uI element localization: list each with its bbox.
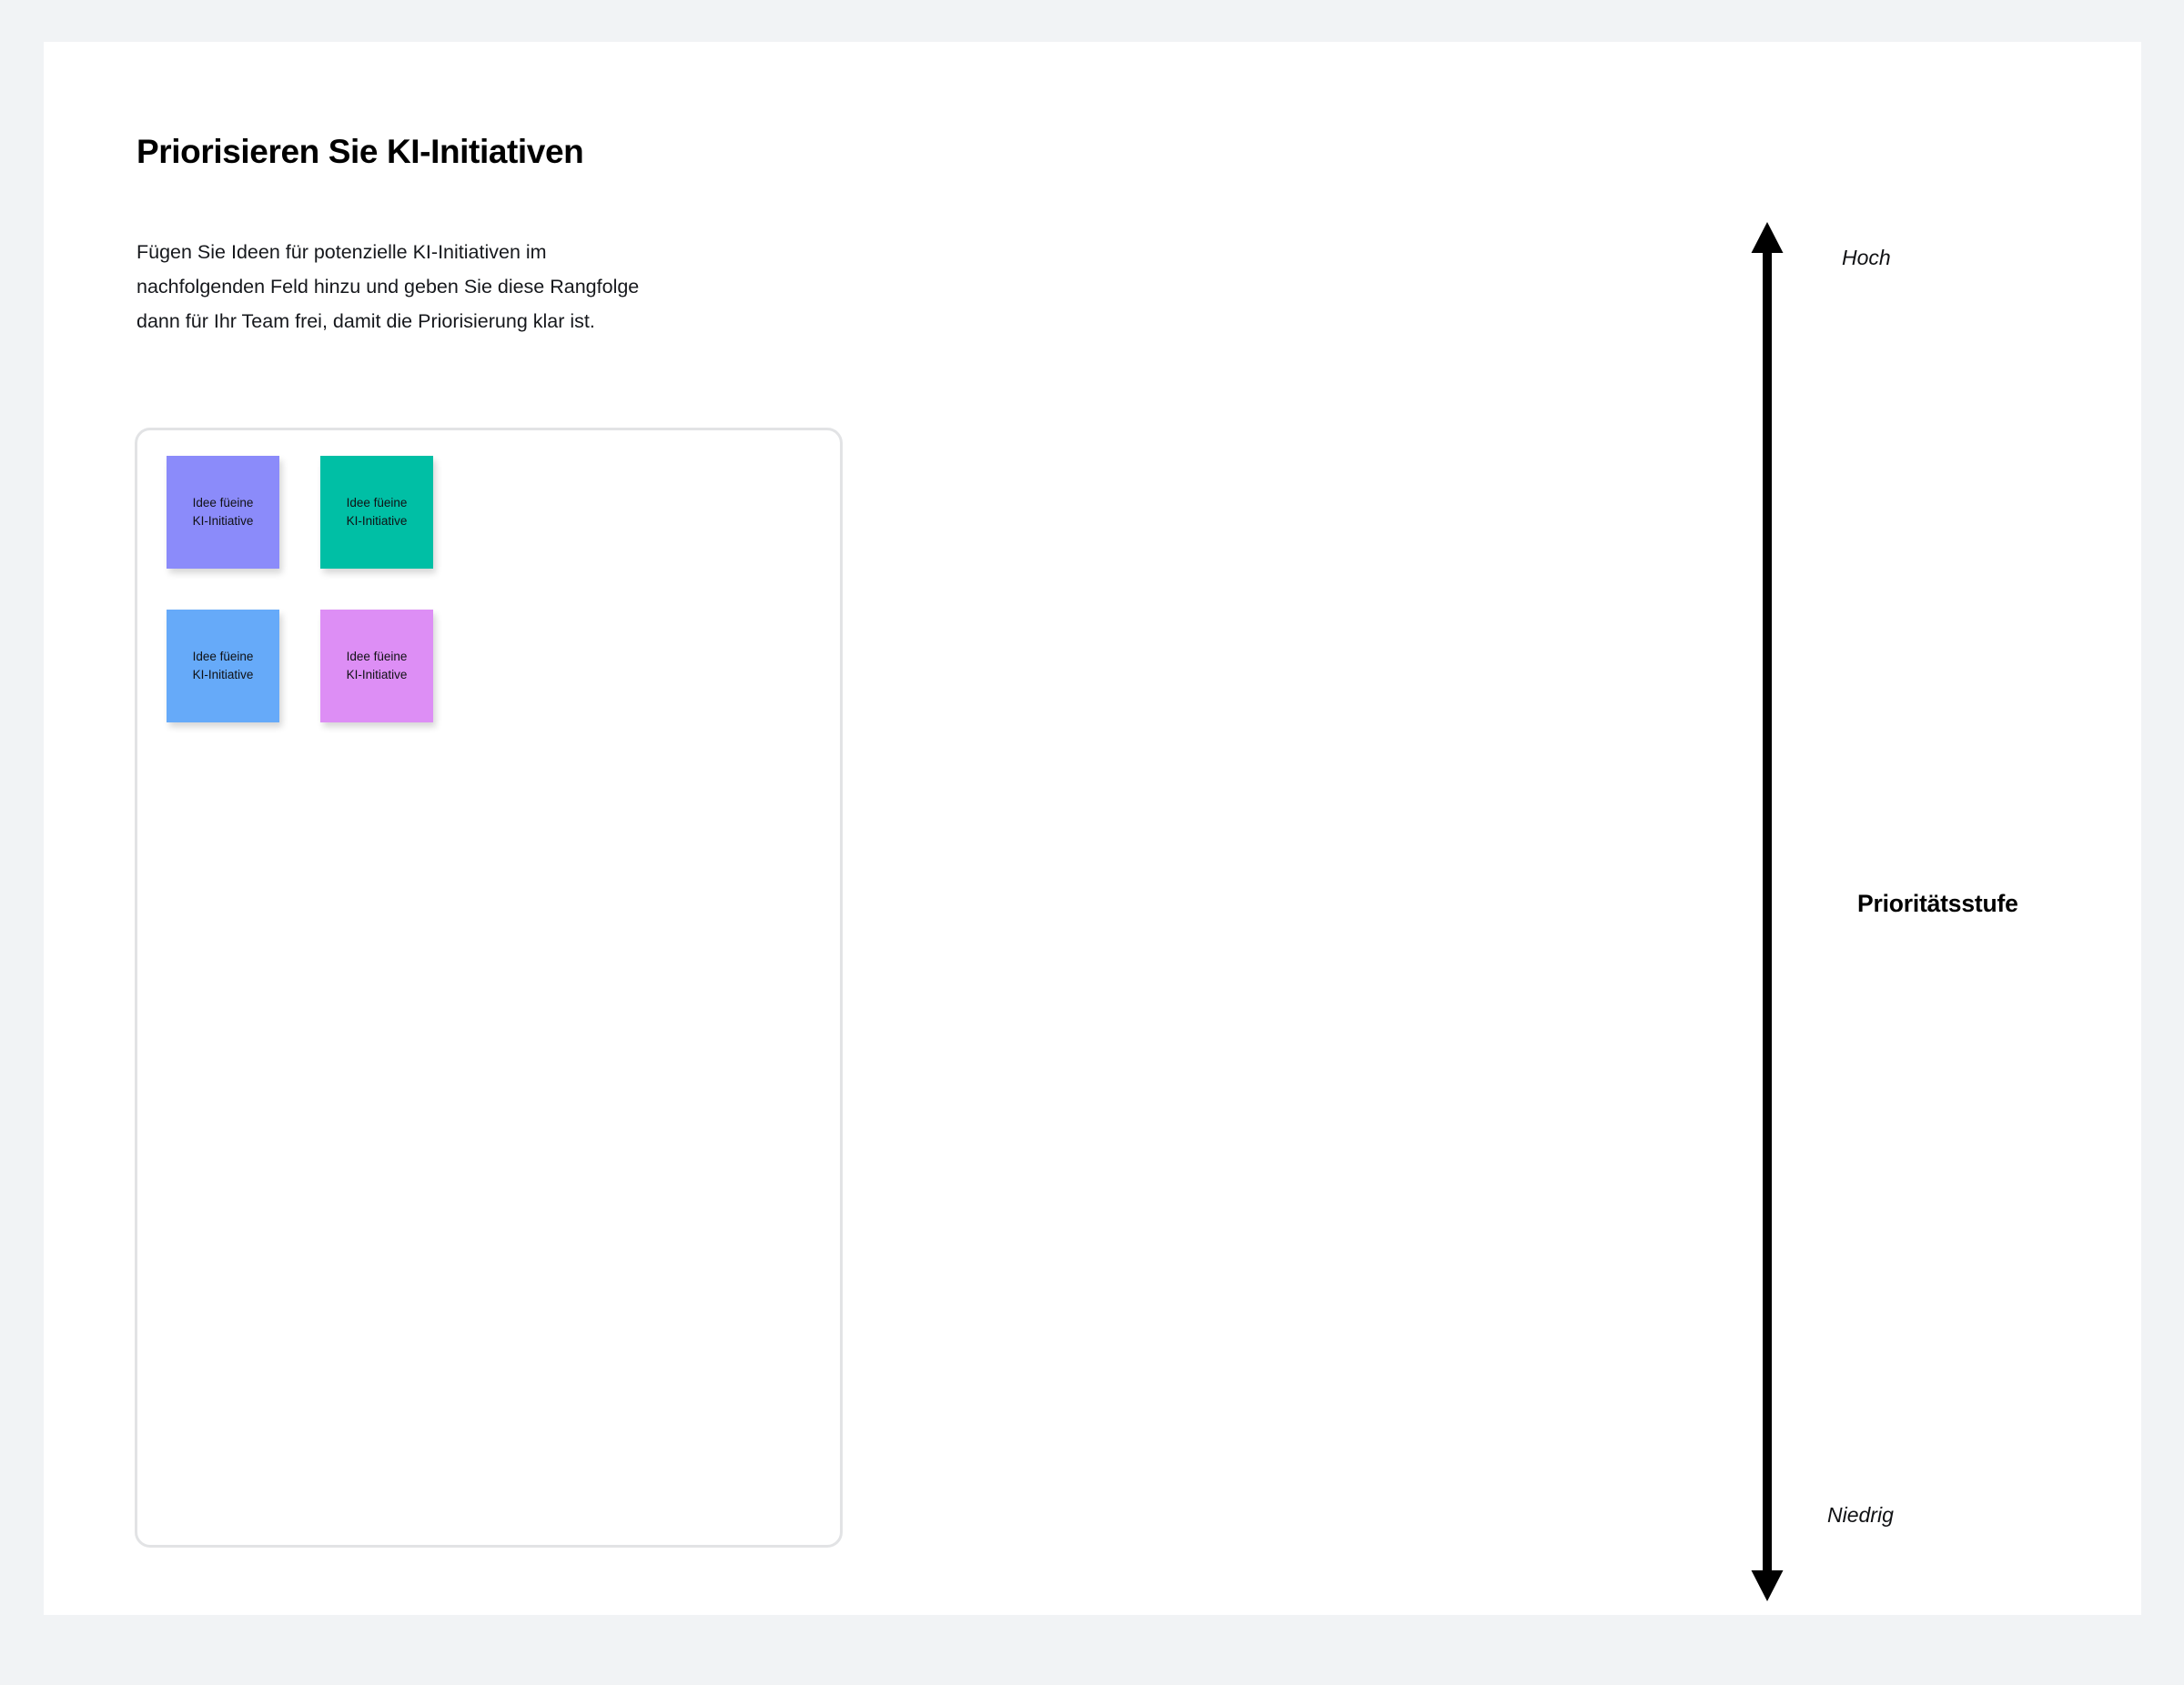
sticky-note-line: KI-Initiative (347, 666, 408, 684)
priority-axis: Hoch Niedrig Prioritätsstufe (1716, 220, 2184, 1603)
page-root: Priorisieren Sie KI-Initiativen Fügen Si… (0, 0, 2184, 1685)
sticky-note-text: Idee füeine KI-Initiative (347, 648, 408, 684)
sticky-note-line: KI-Initiative (193, 512, 254, 530)
sticky-note-line: Idee füeine (193, 648, 254, 666)
double-headed-arrow-icon (1716, 220, 1818, 1603)
sticky-note[interactable]: Idee füeine KI-Initiative (320, 610, 433, 722)
sticky-note-line: Idee füeine (347, 648, 408, 666)
intro-line: Fügen Sie Ideen für potenzielle KI-Initi… (136, 235, 810, 269)
axis-label-high: Hoch (1842, 246, 1891, 270)
sticky-note-line: KI-Initiative (347, 512, 408, 530)
arrow-down-icon (1752, 1570, 1784, 1601)
sticky-note-line: KI-Initiative (193, 666, 254, 684)
sticky-note-text: Idee füeine KI-Initiative (347, 494, 408, 530)
sticky-note-line: Idee füeine (193, 494, 254, 512)
idea-dropzone[interactable]: Idee füeine KI-Initiative Idee füeine KI… (135, 428, 843, 1548)
axis-label-low: Niedrig (1827, 1503, 1894, 1528)
worksheet-canvas: Priorisieren Sie KI-Initiativen Fügen Si… (44, 42, 2141, 1615)
arrow-up-icon (1752, 222, 1784, 253)
sticky-note-grid: Idee füeine KI-Initiative Idee füeine KI… (167, 456, 476, 722)
sticky-note[interactable]: Idee füeine KI-Initiative (167, 456, 279, 569)
sticky-note-line: Idee füeine (347, 494, 408, 512)
sticky-note[interactable]: Idee füeine KI-Initiative (167, 610, 279, 722)
sticky-note-text: Idee füeine KI-Initiative (193, 494, 254, 530)
intro-line: dann für Ihr Team frei, damit die Priori… (136, 304, 810, 338)
sticky-note[interactable]: Idee füeine KI-Initiative (320, 456, 433, 569)
axis-title: Prioritätsstufe (1857, 890, 2018, 918)
intro-line: nachfolgenden Feld hinzu und geben Sie d… (136, 269, 810, 304)
page-title: Priorisieren Sie KI-Initiativen (136, 133, 583, 171)
intro-paragraph: Fügen Sie Ideen für potenzielle KI-Initi… (136, 235, 810, 338)
sticky-note-text: Idee füeine KI-Initiative (193, 648, 254, 684)
